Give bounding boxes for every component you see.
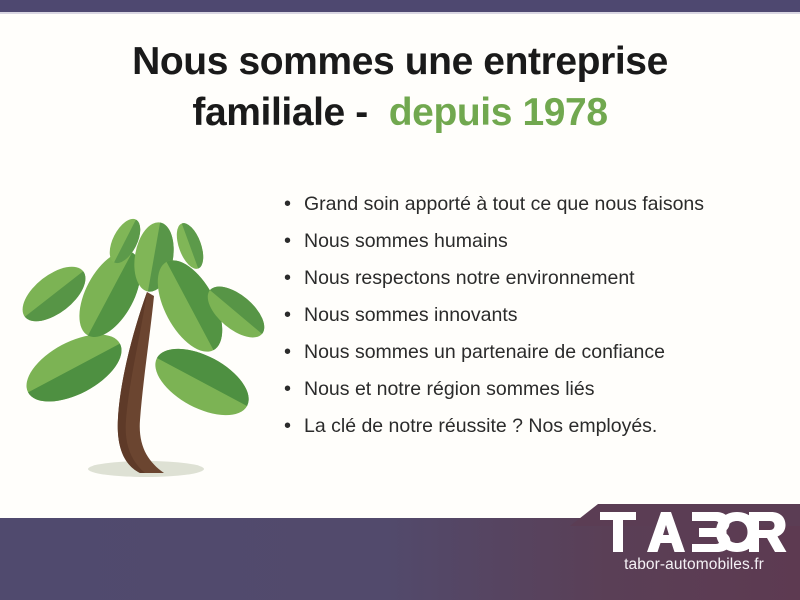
page-title: Nous sommes une entreprise familiale - d… [50,36,750,139]
list-item-label: Grand soin apporté à tout ce que nous fa… [304,192,754,217]
list-item-label: Nous respectons notre environnement [304,266,754,291]
tree-trunk-icon [118,292,164,473]
brand-wordmark [600,512,788,554]
brand-logo[interactable]: tabor-automobiles.fr [596,512,792,590]
bullet-dot-icon: • [284,229,304,254]
list-item: • La clé de notre réussite ? Nos employé… [284,414,754,451]
page-title-plain: familiale - [192,91,368,134]
slide-canvas: Nous sommes une entreprise familiale - d… [0,0,800,600]
bullet-dot-icon: • [284,266,304,291]
bullet-dot-icon: • [284,192,304,217]
list-item: • Nous sommes un partenaire de confiance [284,340,754,377]
list-item-label: La clé de notre réussite ? Nos employés. [304,414,754,439]
page-title-line-2: familiale - depuis 1978 [50,87,750,138]
bullet-dot-icon: • [284,414,304,439]
list-item-label: Nous sommes humains [304,229,754,254]
bullet-dot-icon: • [284,340,304,365]
tree-icon [14,196,272,488]
top-accent-hairline [0,12,800,14]
list-item: • Nous et notre région sommes liés [284,377,754,414]
bullet-dot-icon: • [284,377,304,402]
tree-illustration [14,196,272,488]
list-item-label: Nous et notre région sommes liés [304,377,754,402]
page-title-line-1: Nous sommes une entreprise [50,36,750,87]
brand-tagline: tabor-automobiles.fr [596,555,792,575]
value-proposition-list: • Grand soin apporté à tout ce que nous … [284,192,754,451]
list-item: • Nous sommes innovants [284,303,754,340]
list-item: • Grand soin apporté à tout ce que nous … [284,192,754,229]
list-item-label: Nous sommes innovants [304,303,754,328]
page-title-accent: depuis 1978 [389,91,608,134]
list-item-label: Nous sommes un partenaire de confiance [304,340,754,365]
tabor-wordmark-icon [600,512,788,554]
list-item: • Nous respectons notre environnement [284,266,754,303]
bullet-dot-icon: • [284,303,304,328]
list-item: • Nous sommes humains [284,229,754,266]
top-accent-bar [0,0,800,12]
leaf-icon [16,321,132,416]
